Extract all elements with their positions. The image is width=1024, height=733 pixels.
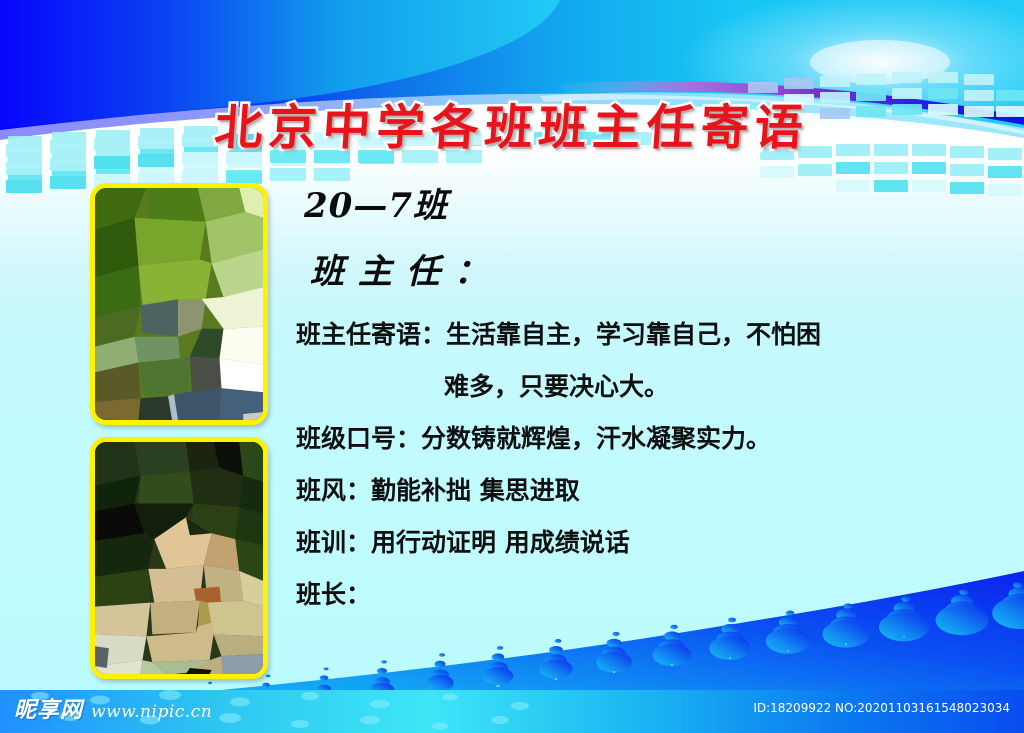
photo-1-mosaic (95, 188, 263, 420)
poster-canvas: 北京中学各班班主任寄语 (0, 0, 1024, 733)
nipic-logo: 昵享网 www.nipic.cn (14, 698, 212, 724)
message-line-4: 班风：勤能补拙 集思进取 (296, 465, 996, 517)
message-line-3: 班级口号：分数铸就辉煌，汗水凝聚实力。 (296, 413, 996, 465)
watermark-footer-bar: 昵享网 www.nipic.cn ID:18209922 NO:20201103… (0, 690, 1024, 733)
watermark-id-text: ID:18209922 NO:20201103161548023034 (753, 701, 1010, 715)
nipic-logo-url: www.nipic.cn (91, 702, 212, 722)
message-line-6: 班长： (296, 569, 996, 621)
poster-title: 北京中学各班班主任寄语 (0, 88, 1024, 158)
class-name: 20—7班 (304, 183, 996, 229)
teacher-label: 班主任： (310, 247, 996, 297)
nipic-logo-cn: 昵享网 (14, 698, 83, 724)
teacher-photo-1[interactable] (90, 183, 268, 425)
photo-2-mosaic (95, 442, 263, 674)
message-block: 20—7班 班主任： 班主任寄语：生活靠自主，学习靠自己，不怕困 难多，只要决心… (296, 183, 996, 621)
poster-title-text: 北京中学各班班主任寄语 (213, 88, 812, 158)
message-line-2: 难多，只要决心大。 (296, 361, 996, 413)
teacher-photo-2[interactable] (90, 437, 268, 679)
message-line-5: 班训：用行动证明 用成绩说话 (296, 517, 996, 569)
message-line-1: 班主任寄语：生活靠自主，学习靠自己，不怕困 (296, 309, 996, 361)
